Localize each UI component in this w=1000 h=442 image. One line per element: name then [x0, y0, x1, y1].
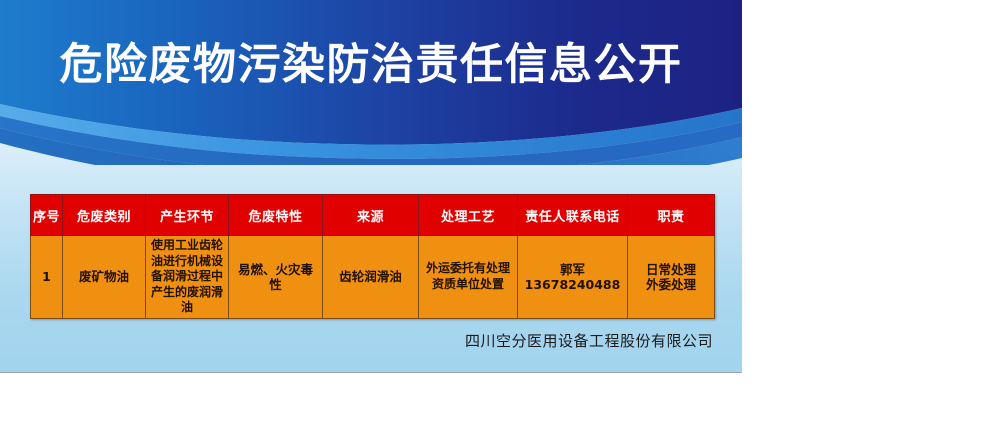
hazardous-waste-table: 序号 危废类别 产生环节 危废特性 来源 处理工艺 责任人联系电话 职责 1 废…	[30, 194, 715, 319]
poster-banner: 危险废物污染防治责任信息公开	[0, 0, 742, 165]
duty-line-1: 日常处理	[631, 262, 711, 277]
cell-source: 齿轮润滑油	[323, 236, 419, 319]
company-name: 四川空分医用设备工程股份有限公司	[0, 330, 713, 351]
contact-phone: 13678240488	[521, 277, 624, 292]
cell-stage: 使用工业齿轮油进行机械设备润滑过程中产生的废润滑油	[146, 236, 229, 319]
column-header-property: 危废特性	[229, 195, 323, 236]
column-header-no: 序号	[31, 195, 63, 236]
column-header-stage: 产生环节	[146, 195, 229, 236]
cell-no: 1	[31, 236, 63, 319]
duty-line-2: 外委处理	[631, 277, 711, 292]
table-row: 1 废矿物油 使用工业齿轮油进行机械设备润滑过程中产生的废润滑油 易燃、火灾毒性…	[31, 236, 715, 319]
cell-process: 外运委托有处理资质单位处置	[419, 236, 518, 319]
column-header-contact: 责任人联系电话	[518, 195, 628, 236]
table-header-row: 序号 危废类别 产生环节 危废特性 来源 处理工艺 责任人联系电话 职责	[31, 195, 715, 236]
cell-contact: 郭军 13678240488	[518, 236, 628, 319]
cell-category: 废矿物油	[63, 236, 146, 319]
column-header-source: 来源	[323, 195, 419, 236]
banner-graphic	[0, 0, 742, 165]
column-header-category: 危废类别	[63, 195, 146, 236]
column-header-duty: 职责	[628, 195, 715, 236]
cell-property: 易燃、火灾毒性	[229, 236, 323, 319]
information-disclosure-poster: 危险废物污染防治责任信息公开 序号 危废类别 产生环节 危废特性 来源 处理工艺…	[0, 0, 742, 373]
cell-duty: 日常处理 外委处理	[628, 236, 715, 319]
contact-name: 郭军	[521, 262, 624, 277]
column-header-process: 处理工艺	[419, 195, 518, 236]
